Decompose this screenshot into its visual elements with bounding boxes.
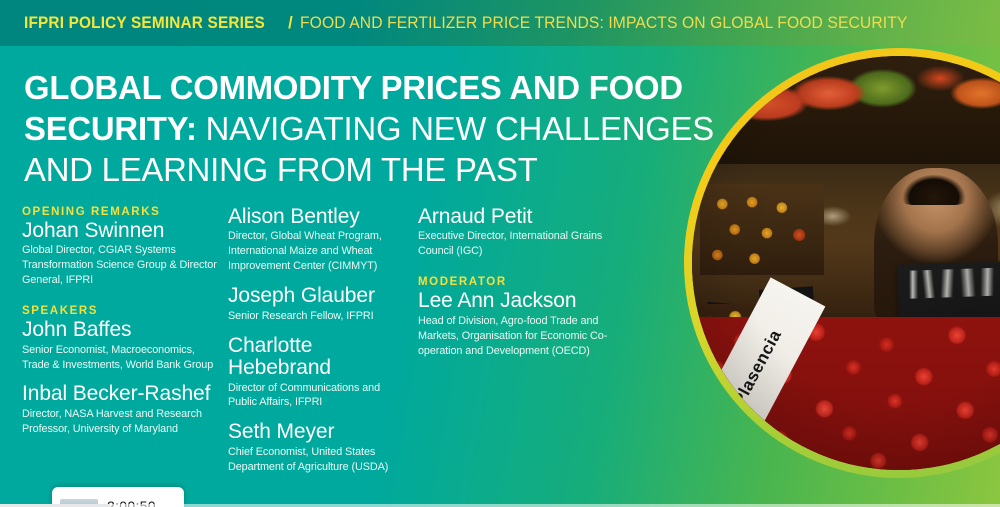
title-line-2-bold: SECURITY: (24, 111, 197, 148)
person-name: Charlotte Hebebrand (228, 335, 418, 380)
seminar-series-banner: IFPRI POLICY SEMINAR SERIES / FOOD AND F… (0, 0, 1000, 46)
person-affiliation: Senior Economist, Macroeconomics, Trade … (22, 343, 220, 373)
person-name: Alison Bentley (228, 206, 418, 228)
speaker-column-1: OPENING REMARKS Johan Swinnen Global Dir… (22, 206, 228, 486)
person-seth-meyer: Seth Meyer Chief Economist, United State… (228, 421, 418, 474)
person-affiliation: Director of Communications and Public Af… (228, 381, 410, 411)
speaker-column-3: Arnaud Petit Executive Director, Interna… (418, 206, 638, 486)
person-charlotte-hebebrand: Charlotte Hebebrand Director of Communic… (228, 335, 418, 411)
label-speakers: SPEAKERS (22, 305, 228, 317)
person-affiliation: Senior Research Fellow, IFPRI (228, 309, 410, 324)
person-name: Joseph Glauber (228, 285, 418, 307)
person-johan-swinnen: Johan Swinnen Global Director, CGIAR Sys… (22, 220, 228, 288)
webinar-promo-slide: IFPRI POLICY SEMINAR SERIES / FOOD AND F… (0, 0, 1000, 507)
label-moderator: MODERATOR (418, 276, 638, 288)
speaker-columns: OPENING REMARKS Johan Swinnen Global Dir… (22, 206, 662, 486)
person-affiliation: Chief Economist, United States Departmen… (228, 445, 410, 475)
person-lee-ann-jackson: Lee Ann Jackson Head of Division, Agro-f… (418, 290, 638, 358)
person-joseph-glauber: Joseph Glauber Senior Research Fellow, I… (228, 285, 418, 323)
label-opening-remarks: OPENING REMARKS (22, 206, 228, 218)
person-name: Seth Meyer (228, 421, 418, 443)
person-name: Inbal Becker-Rashef (22, 383, 228, 405)
banner-series-name: IFPRI POLICY SEMINAR SERIES (24, 14, 265, 33)
person-affiliation: Director, NASA Harvest and Research Prof… (22, 407, 220, 437)
person-name: Lee Ann Jackson (418, 290, 638, 312)
photo-image: 479 Plasencia (692, 56, 1000, 470)
title-line-2-rest: NAVIGATING NEW CHALLENGES (197, 111, 714, 148)
person-affiliation: Global Director, CGIAR Systems Transform… (22, 243, 220, 288)
speaker-column-2: Alison Bentley Director, Global Wheat Pr… (228, 206, 418, 486)
person-affiliation: Head of Division, Agro-food Trade and Ma… (418, 314, 629, 359)
title-line-1: GLOBAL COMMODITY PRICES AND FOOD (24, 68, 651, 109)
person-affiliation: Director, Global Wheat Program, Internat… (228, 229, 410, 274)
person-name: Johan Swinnen (22, 220, 228, 242)
page-title: GLOBAL COMMODITY PRICES AND FOOD SECURIT… (24, 68, 664, 192)
banner-separator: / (288, 14, 293, 33)
person-alison-bentley: Alison Bentley Director, Global Wheat Pr… (228, 206, 418, 274)
title-line-3: AND LEARNING FROM THE PAST (24, 150, 651, 191)
banner-topic: FOOD AND FERTILIZER PRICE TRENDS: IMPACT… (300, 14, 907, 33)
person-name: John Baffes (22, 319, 228, 341)
market-photo-circle: 479 Plasencia (684, 48, 1000, 478)
person-john-baffes: John Baffes Senior Economist, Macroecono… (22, 319, 228, 372)
person-name: Arnaud Petit (418, 206, 638, 228)
person-arnaud-petit: Arnaud Petit Executive Director, Interna… (418, 206, 638, 259)
person-affiliation: Executive Director, International Grains… (418, 229, 629, 259)
person-inbal-becker-rashef: Inbal Becker-Rashef Director, NASA Harve… (22, 383, 228, 436)
photo-vignette (692, 56, 1000, 470)
